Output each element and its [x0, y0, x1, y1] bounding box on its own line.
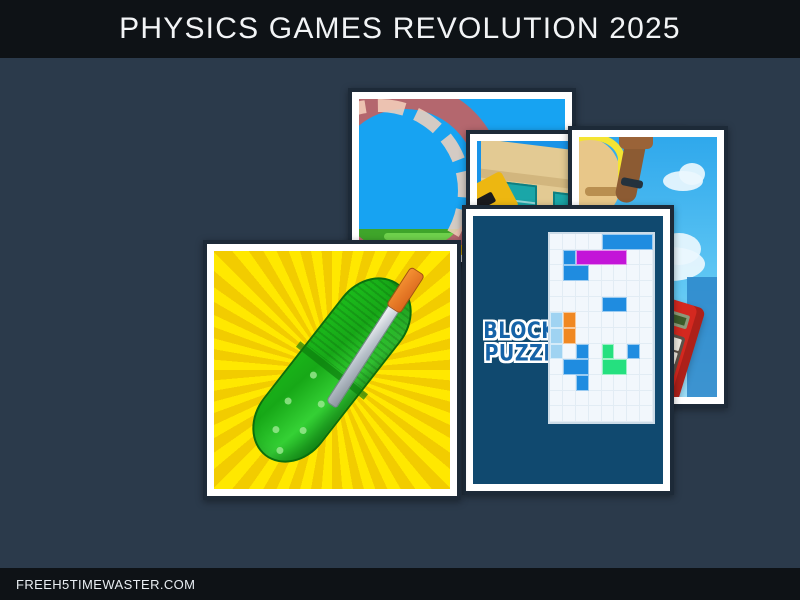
puzzle-cell[interactable] [589, 391, 602, 407]
ragdoll-face-strap [585, 187, 619, 196]
puzzle-block[interactable] [563, 250, 576, 266]
puzzle-cell[interactable] [614, 312, 627, 328]
puzzle-cell[interactable] [576, 406, 589, 422]
puzzle-block[interactable] [576, 375, 589, 391]
puzzle-block[interactable] [550, 328, 563, 344]
watermark-text: FREEH5TIMEWASTER.COM [0, 577, 195, 592]
puzzle-cell[interactable] [576, 297, 589, 313]
puzzle-cell[interactable] [614, 328, 627, 344]
puzzle-cell[interactable] [602, 328, 615, 344]
puzzle-cell[interactable] [627, 359, 640, 375]
puzzle-cell[interactable] [640, 297, 653, 313]
puzzle-block[interactable] [602, 359, 628, 375]
puzzle-cell[interactable] [563, 391, 576, 407]
puzzle-cell[interactable] [589, 297, 602, 313]
puzzle-cell[interactable] [589, 359, 602, 375]
puzzle-block[interactable] [563, 265, 589, 281]
loop-track-ring-inner [359, 99, 471, 255]
puzzle-cell[interactable] [640, 406, 653, 422]
puzzle-cell[interactable] [589, 312, 602, 328]
puzzle-cell[interactable] [640, 344, 653, 360]
puzzle-cell[interactable] [563, 297, 576, 313]
puzzle-cell[interactable] [550, 297, 563, 313]
puzzle-cell[interactable] [563, 281, 576, 297]
puzzle-block[interactable] [576, 250, 628, 266]
puzzle-block[interactable] [602, 234, 654, 250]
puzzle-cell[interactable] [640, 281, 653, 297]
puzzle-cell[interactable] [550, 265, 563, 281]
puzzle-cell[interactable] [550, 281, 563, 297]
puzzle-block[interactable] [576, 344, 589, 360]
puzzle-board[interactable] [548, 232, 655, 424]
puzzle-cell[interactable] [563, 375, 576, 391]
puzzle-cell[interactable] [576, 281, 589, 297]
page-title: PHYSICS GAMES REVOLUTION 2025 [119, 12, 681, 46]
cucumber-speckle [283, 396, 293, 406]
puzzle-cell[interactable] [550, 375, 563, 391]
puzzle-cell[interactable] [602, 281, 615, 297]
puzzle-cell[interactable] [550, 391, 563, 407]
puzzle-cell[interactable] [640, 265, 653, 281]
cucumber-speckle [271, 424, 281, 434]
puzzle-cell[interactable] [589, 344, 602, 360]
cucumber-speckle [298, 425, 308, 435]
puzzle-cell[interactable] [614, 344, 627, 360]
puzzle-block[interactable] [563, 312, 576, 328]
puzzle-cell[interactable] [589, 234, 602, 250]
puzzle-cell[interactable] [614, 391, 627, 407]
puzzle-cell[interactable] [640, 328, 653, 344]
pickle-slice-artwork [214, 251, 450, 489]
puzzle-cell[interactable] [602, 391, 615, 407]
puzzle-cell[interactable] [563, 344, 576, 360]
puzzle-cell[interactable] [602, 265, 615, 281]
cucumber-speckle [275, 445, 285, 455]
pickle-slice-card-frame [207, 244, 457, 496]
page-header: PHYSICS GAMES REVOLUTION 2025 [0, 0, 800, 58]
puzzle-cell[interactable] [589, 281, 602, 297]
puzzle-cell[interactable] [589, 328, 602, 344]
ragdoll-hand [619, 137, 653, 149]
puzzle-cell[interactable] [640, 250, 653, 266]
puzzle-cell[interactable] [640, 359, 653, 375]
puzzle-cell[interactable] [576, 234, 589, 250]
cloud-shape [679, 163, 705, 185]
pickle-slice-card[interactable] [203, 240, 461, 500]
puzzle-cell[interactable] [563, 406, 576, 422]
puzzle-cell[interactable] [614, 281, 627, 297]
puzzle-cell[interactable] [627, 297, 640, 313]
puzzle-cell[interactable] [550, 250, 563, 266]
blocks-puzzle-artwork: BLOCKS PUZZLE [473, 216, 663, 484]
puzzle-cell[interactable] [550, 359, 563, 375]
puzzle-block[interactable] [563, 359, 589, 375]
puzzle-block[interactable] [563, 328, 576, 344]
puzzle-cell[interactable] [640, 375, 653, 391]
puzzle-cell[interactable] [627, 391, 640, 407]
puzzle-block[interactable] [550, 312, 563, 328]
puzzle-cell[interactable] [627, 265, 640, 281]
puzzle-block[interactable] [627, 344, 640, 360]
page-footer: FREEH5TIMEWASTER.COM [0, 568, 800, 600]
puzzle-cell[interactable] [550, 406, 563, 422]
puzzle-cell[interactable] [589, 406, 602, 422]
puzzle-block[interactable] [602, 297, 628, 313]
puzzle-cell[interactable] [589, 375, 602, 391]
gallery-stage: BLOCKS PUZZLE [0, 58, 800, 568]
puzzle-cell[interactable] [627, 328, 640, 344]
puzzle-cell[interactable] [627, 281, 640, 297]
blocks-puzzle-card-frame: BLOCKS PUZZLE [466, 209, 670, 491]
puzzle-block[interactable] [550, 344, 563, 360]
puzzle-cell[interactable] [627, 250, 640, 266]
puzzle-cell[interactable] [602, 406, 615, 422]
puzzle-cell[interactable] [640, 391, 653, 407]
puzzle-cell[interactable] [589, 265, 602, 281]
puzzle-cell[interactable] [602, 375, 615, 391]
puzzle-cell[interactable] [614, 406, 627, 422]
puzzle-cell[interactable] [627, 312, 640, 328]
puzzle-cell[interactable] [550, 234, 563, 250]
puzzle-cell[interactable] [576, 312, 589, 328]
puzzle-cell[interactable] [614, 265, 627, 281]
puzzle-cell[interactable] [602, 312, 615, 328]
puzzle-cell[interactable] [640, 312, 653, 328]
cucumber-speckle [309, 370, 319, 380]
puzzle-block[interactable] [602, 344, 615, 360]
puzzle-cell[interactable] [627, 375, 640, 391]
puzzle-cell[interactable] [576, 328, 589, 344]
puzzle-cell[interactable] [563, 234, 576, 250]
puzzle-cell[interactable] [627, 406, 640, 422]
blocks-puzzle-card[interactable]: BLOCKS PUZZLE [462, 205, 674, 495]
puzzle-cell[interactable] [614, 375, 627, 391]
puzzle-cell[interactable] [576, 391, 589, 407]
